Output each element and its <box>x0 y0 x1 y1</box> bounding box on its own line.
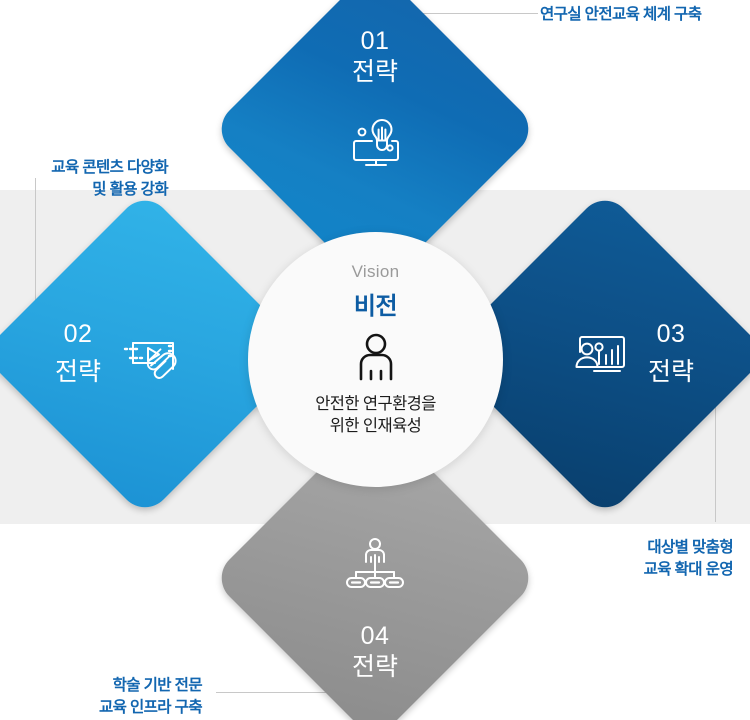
caption-strategy-03-line2: 교육 확대 운영 <box>628 559 733 581</box>
vision-circle: Vision 비전 안전한 연구환경을 위한 인재육성 <box>248 232 503 487</box>
strategy-02-word: 전략 <box>55 352 101 388</box>
strategy-01-word: 전략 <box>352 58 398 86</box>
caption-strategy-03-line1: 대상별 맞춤형 <box>628 537 733 559</box>
org-chart-icon <box>344 535 406 598</box>
monitor-lightbulb-icon <box>344 112 406 175</box>
vision-strategy-diagram: 01 전략 02 <box>0 0 750 720</box>
caption-strategy-01-line1: 연구실 안전교육 체계 구축 <box>540 4 701 26</box>
strategy-04-number: 04 <box>361 622 390 650</box>
strategy-04-word: 전략 <box>352 653 398 681</box>
vision-description-line2: 위한 인재육성 <box>315 416 436 438</box>
strategy-03-number: 03 <box>657 320 686 349</box>
caption-strategy-02-line2: 및 활용 강화 <box>18 179 168 201</box>
video-attachment-icon <box>119 323 183 386</box>
strategy-01-number: 01 <box>361 27 390 55</box>
caption-strategy-03: 대상별 맞춤형 교육 확대 운영 <box>628 537 733 581</box>
vision-description: 안전한 연구환경을 위한 인재육성 <box>315 394 436 438</box>
caption-strategy-04: 학술 기반 전문 교육 인프라 구축 <box>88 675 202 719</box>
caption-strategy-01: 연구실 안전교육 체계 구축 <box>540 4 701 26</box>
strategy-02-number: 02 <box>64 320 93 349</box>
person-icon <box>350 331 402 388</box>
vision-label-ko: 비전 <box>354 286 397 321</box>
presentation-chart-person-icon <box>568 323 632 386</box>
vision-label-en: Vision <box>352 262 400 282</box>
caption-strategy-02: 교육 콘텐츠 다양화 및 활용 강화 <box>18 157 168 201</box>
caption-strategy-04-line2: 교육 인프라 구축 <box>88 697 202 719</box>
vision-description-line1: 안전한 연구환경을 <box>315 394 436 416</box>
caption-strategy-02-line1: 교육 콘텐츠 다양화 <box>18 157 168 179</box>
strategy-03-word: 전략 <box>648 352 694 388</box>
caption-strategy-04-line1: 학술 기반 전문 <box>88 675 202 697</box>
